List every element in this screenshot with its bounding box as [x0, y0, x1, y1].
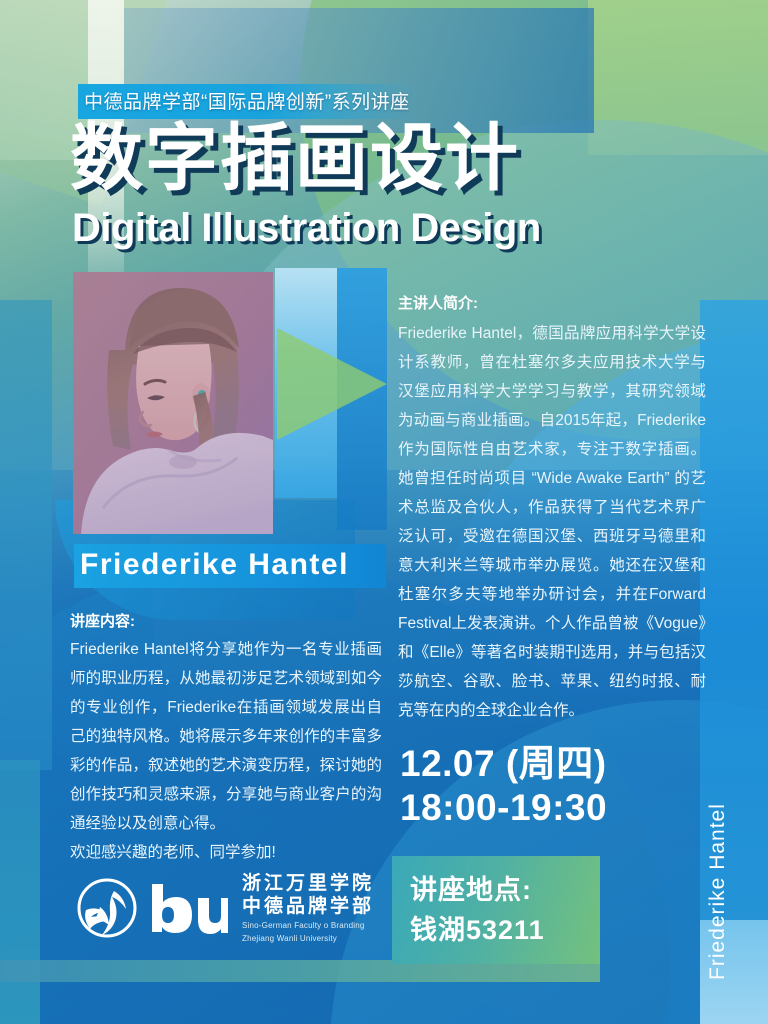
background-left-strip-lower [0, 760, 40, 1024]
lecture-welcome-text: 欢迎感兴趣的老师、同学参加! [70, 838, 382, 867]
institution-name-group: 浙江万里学院 中德品牌学部 Sino-German Faculty o Bran… [242, 872, 374, 944]
event-date: 12.07 (周四) [400, 742, 607, 786]
lecture-content-text: Friederike Hantel将分享她作为一名专业插画师的职业历程，从她最初… [70, 635, 382, 838]
institution-logo: 浙江万里学院 中德品牌学部 Sino-German Faculty o Bran… [76, 872, 374, 944]
speaker-portrait [73, 272, 273, 534]
background-left-strip [0, 300, 52, 770]
venue-room: 钱湖53211 [410, 910, 600, 950]
faculty-name-en: Sino-German Faculty o Branding [242, 920, 374, 931]
background-green-block [588, 0, 768, 155]
lecture-content-block: 讲座内容: Friederike Hantel将分享她作为一名专业插画师的职业历… [70, 610, 382, 867]
speaker-bio-heading: 主讲人简介: [398, 292, 706, 313]
page-title-en: Digital Illustration Design [72, 206, 541, 251]
page-title-cn: 数字插画设计 [70, 122, 520, 195]
lecture-content-heading: 讲座内容: [70, 610, 382, 631]
university-name-cn: 浙江万里学院 [242, 872, 374, 895]
bird-circle-emblem-icon [76, 877, 138, 939]
faculty-name-cn: 中德品牌学部 [242, 895, 374, 918]
bu-wordmark-icon [146, 882, 228, 934]
university-name-en: Zhejiang Wanli University [242, 933, 374, 944]
series-kicker: 中德品牌学部“国际品牌创新”系列讲座 [78, 84, 418, 119]
venue-box: 讲座地点: 钱湖53211 [392, 856, 600, 964]
side-vertical-speaker-name: Friederike Hantel [706, 760, 730, 980]
decor-green-triangle [277, 328, 387, 440]
speaker-name: Friederike Hantel [74, 544, 386, 588]
speaker-bio-block: 主讲人简介: Friederike Hantel，德国品牌应用科学大学设计系教师… [398, 292, 706, 725]
event-datetime: 12.07 (周四) 18:00-19:30 [400, 742, 607, 830]
venue-label: 讲座地点: [410, 870, 600, 910]
speaker-bio-text: Friederike Hantel，德国品牌应用科学大学设计系教师，曾在杜塞尔多… [398, 319, 706, 725]
poster-root: 中德品牌学部“国际品牌创新”系列讲座 数字插画设计 Digital Illust… [0, 0, 768, 1024]
event-time: 18:00-19:30 [400, 786, 607, 830]
